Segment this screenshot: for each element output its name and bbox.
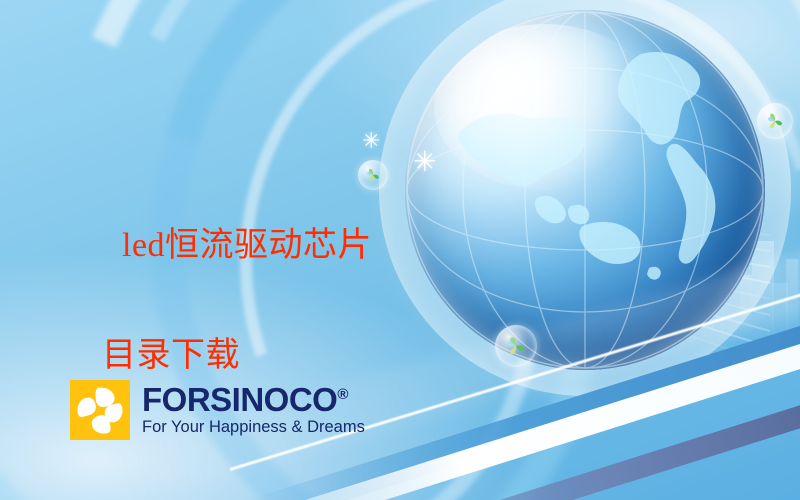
light-streak: [613, 252, 771, 284]
globe-grid-lines: [405, 10, 765, 370]
stripe-dark-blue: [327, 368, 800, 500]
globe-rim: [405, 10, 765, 370]
headline-line-2: 目录下载: [86, 328, 372, 383]
skyline-building: [752, 241, 774, 345]
snowflake-icon-2: ✳: [413, 148, 436, 176]
skyline-building: [710, 287, 724, 345]
bubble-icon-2: [495, 325, 537, 367]
light-streak: [550, 278, 770, 348]
pinwheel-leaf-icon: [503, 333, 528, 358]
skyline-building: [658, 235, 678, 345]
globe-continents: [405, 10, 765, 370]
light-streak: [616, 287, 771, 332]
snowflake-icon-1: ✳: [362, 130, 380, 152]
logo-wordmark: FORSINOCO®: [142, 383, 365, 417]
registered-trademark-icon: ®: [337, 386, 348, 403]
skyline-building: [606, 267, 624, 345]
light-streak: [542, 220, 770, 252]
skyline-building: [632, 249, 654, 345]
logo-text-lockup: FORSINOCO® For Your Happiness & Dreams: [142, 383, 365, 437]
earth-globe-icon: [405, 10, 765, 370]
light-streak: [545, 249, 770, 300]
light-streak: [611, 217, 770, 236]
four-petal-flower-icon: [70, 380, 130, 440]
skyline-building: [690, 225, 714, 345]
skyline-building: [722, 253, 740, 345]
skyline-building: [786, 259, 798, 345]
logo-brand-name: FORSINOCO: [142, 381, 337, 418]
skyline-building: [772, 283, 788, 345]
headline-line-1: led恒流驱动芯片: [122, 227, 372, 264]
logo-tagline: For Your Happiness & Dreams: [142, 418, 365, 437]
skyline-building: [648, 279, 660, 345]
city-skyline-icon: [590, 215, 800, 345]
pinwheel-leaf-icon: [764, 110, 786, 132]
bubble-icon-3: [757, 103, 793, 139]
skyline-building: [740, 275, 752, 345]
skyline-building: [676, 271, 692, 345]
globe-highlight: [434, 24, 657, 190]
skyline-building: [620, 299, 634, 345]
light-streaks: [470, 210, 770, 410]
page-title: led恒流驱动芯片 目录下载: [86, 163, 372, 493]
company-logo: FORSINOCO® For Your Happiness & Dreams: [70, 380, 365, 440]
light-streak: [479, 241, 771, 316]
globe-sphere: [405, 10, 765, 370]
globe-halo: [379, 0, 791, 396]
promotional-banner: ✳✳ led恒流驱动芯片 目录下载 FORSINOCO® F: [0, 0, 800, 500]
flower-petals-glyph: [70, 380, 130, 440]
skyline-building: [594, 289, 620, 345]
light-streak: [474, 218, 770, 268]
